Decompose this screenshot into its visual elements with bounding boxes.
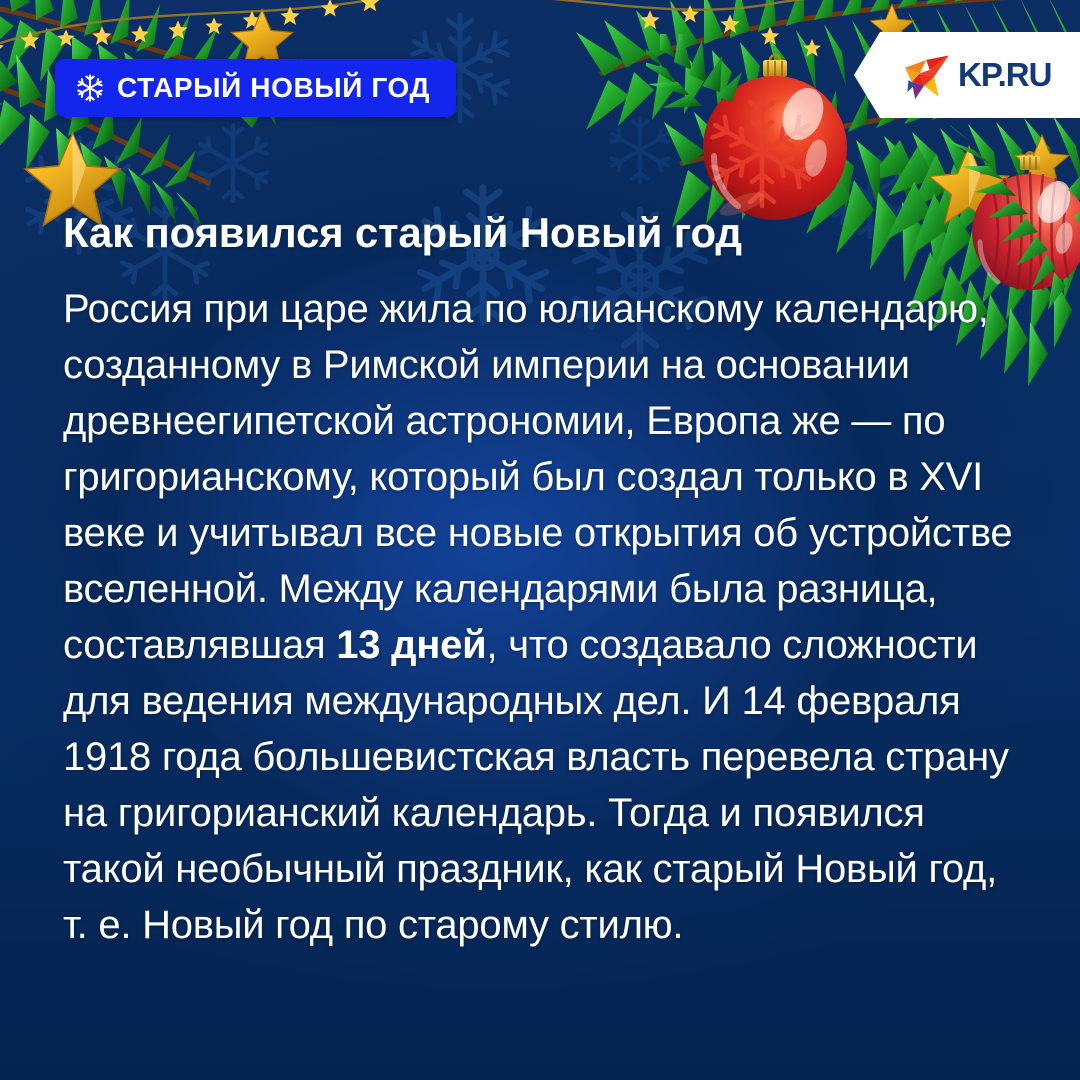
article-headline: Как появился старый Новый год xyxy=(63,210,1023,255)
christmas-article-card: СТАРЫЙ НОВЫЙ ГОД KP.RU Как появился стар… xyxy=(0,0,1080,1080)
snowflake-icon xyxy=(75,73,105,103)
red-ornament-snowflake xyxy=(700,52,850,227)
kp-ru-logo-text: KP.RU xyxy=(958,56,1051,94)
article-content: Как появился старый Новый год Россия при… xyxy=(63,210,1023,953)
article-paragraph: Россия при царе жила по юлианскому кален… xyxy=(63,281,1023,953)
paragraph-segment-1: Россия при царе жила по юлианскому кален… xyxy=(63,287,1012,667)
category-badge[interactable]: СТАРЫЙ НОВЫЙ ГОД xyxy=(55,59,456,117)
snowflake-watermark xyxy=(600,110,680,190)
gold-star-small-right xyxy=(1012,132,1072,192)
pine-sprig-front-left xyxy=(646,34,776,154)
paragraph-segment-2: , что создавало сложности для ведения ме… xyxy=(63,623,1009,947)
category-badge-label: СТАРЫЙ НОВЫЙ ГОД xyxy=(117,72,430,104)
kp-bird-icon xyxy=(894,51,952,99)
snowflake-watermark xyxy=(188,118,278,208)
paragraph-highlight: 13 дней xyxy=(336,623,486,667)
kp-ru-logo[interactable]: KP.RU xyxy=(854,32,1080,118)
